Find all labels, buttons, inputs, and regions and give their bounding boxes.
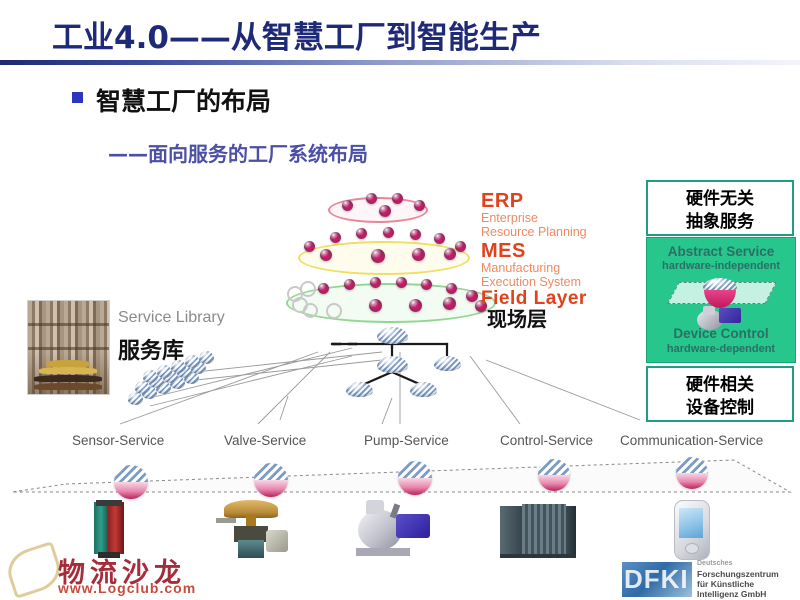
service-library-label-en: Service Library	[118, 309, 225, 327]
service-label-communication: Communication-Service	[620, 433, 763, 448]
device-control-subtitle: hardware-dependent	[647, 343, 795, 355]
erp-acronym: ERP	[481, 190, 524, 213]
hardware-independent-box: 硬件无关 抽象服务	[646, 180, 794, 236]
hardware-independent-line1: 硬件无关	[648, 188, 792, 211]
device-photo-plc	[496, 500, 582, 558]
service-label-control: Control-Service	[500, 433, 593, 448]
hardware-dependent-line1: 硬件相关	[648, 374, 792, 397]
slide-canvas: 工业4.0——从智慧工厂到智能生产 智慧工厂的布局 ——面向服务的工厂系统布局	[0, 0, 800, 600]
service-label-valve: Valve-Service	[224, 433, 306, 448]
book-stack-icon	[34, 360, 102, 390]
device-dome-communication	[676, 457, 708, 489]
device-dome-control	[538, 459, 570, 491]
erp-line2: Resource Planning	[481, 225, 587, 239]
dfki-line4: Intelligenz GmbH	[697, 589, 766, 599]
panel-pump-icon	[697, 306, 743, 332]
watermark-ribbon-icon	[2, 541, 65, 599]
device-photo-valve	[212, 500, 308, 558]
erp-line1: Enterprise	[481, 211, 538, 225]
page-title: 工业4.0——从智慧工厂到智能生产	[52, 12, 541, 57]
device-photo-mobile	[660, 500, 724, 558]
mes-acronym: MES	[481, 240, 526, 263]
service-label-pump: Pump-Service	[364, 433, 449, 448]
abstract-service-subtitle: hardware-independent	[647, 260, 795, 272]
field-layer-label-zh: 现场层	[487, 303, 547, 332]
dfki-logo-letters: DFKI	[624, 564, 690, 595]
abstract-service-panel: Abstract Service hardware-independent De…	[646, 237, 796, 363]
device-photo-sensor	[78, 500, 156, 558]
dfki-line2: Forschungszentrum	[697, 569, 779, 579]
device-dome-sensor	[114, 465, 148, 499]
watermark-url: www.Logclub.com	[58, 580, 196, 596]
section-heading: 智慧工厂的布局	[96, 82, 271, 118]
hardware-dependent-box: 硬件相关 设备控制	[646, 366, 794, 422]
dfki-line1: Deutsches	[697, 560, 732, 567]
title-divider	[0, 60, 800, 65]
device-photo-pump	[352, 500, 444, 558]
hardware-dependent-line2: 设备控制	[648, 397, 792, 420]
abstract-service-title: Abstract Service	[647, 244, 795, 259]
mes-line2: Execution System	[481, 275, 581, 289]
mes-line1: Manufacturing	[481, 261, 560, 275]
bullet-square-icon	[72, 92, 83, 103]
device-dome-valve	[254, 463, 288, 497]
hardware-independent-line2: 抽象服务	[648, 211, 792, 234]
device-dome-pump	[398, 461, 432, 495]
dfki-line3: für Künstliche	[697, 579, 754, 589]
service-label-sensor: Sensor-Service	[72, 433, 164, 448]
service-library-photo	[27, 300, 110, 395]
section-subheading: ——面向服务的工厂系统布局	[108, 138, 368, 167]
